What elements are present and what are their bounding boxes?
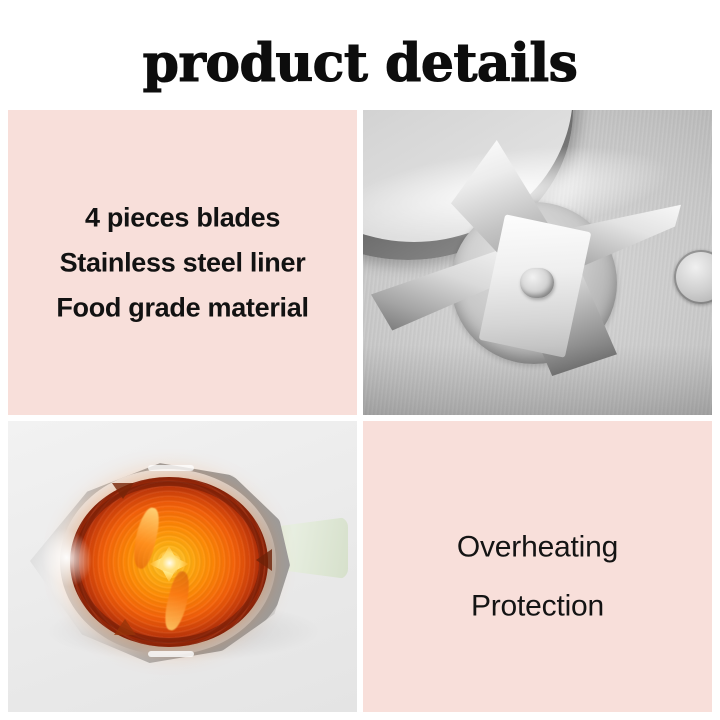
protection-text-block: Overheating Protection: [363, 517, 712, 635]
rim-notch-bottom: [148, 651, 194, 657]
bottom-shading: [363, 345, 712, 415]
blade-assembly-photo: [363, 110, 712, 415]
rim-notch-top: [148, 465, 194, 471]
feature-line-blades: 4 pieces blades: [18, 195, 347, 240]
overheating-protection-panel: Overheating Protection: [363, 421, 712, 712]
heat-arrow-top-icon: [112, 483, 134, 499]
protection-line-protection: Protection: [373, 576, 702, 635]
page-title: product details: [0, 36, 720, 92]
heated-jug-photo: [8, 421, 357, 712]
feature-line-liner: Stainless steel liner: [18, 240, 347, 285]
protection-line-overheating: Overheating: [373, 517, 702, 576]
heat-arrow-bottom-icon: [114, 619, 136, 635]
features-text-panel: 4 pieces blades Stainless steel liner Fo…: [8, 110, 357, 415]
blade-center-hub: [520, 268, 554, 298]
feature-list: 4 pieces blades Stainless steel liner Fo…: [8, 195, 357, 330]
panel-grid: 4 pieces blades Stainless steel liner Fo…: [8, 110, 712, 712]
heat-arrow-right-icon: [256, 549, 272, 571]
feature-line-material: Food grade material: [18, 285, 347, 330]
product-details-page: product details 4 pieces blades Stainles…: [0, 0, 720, 720]
